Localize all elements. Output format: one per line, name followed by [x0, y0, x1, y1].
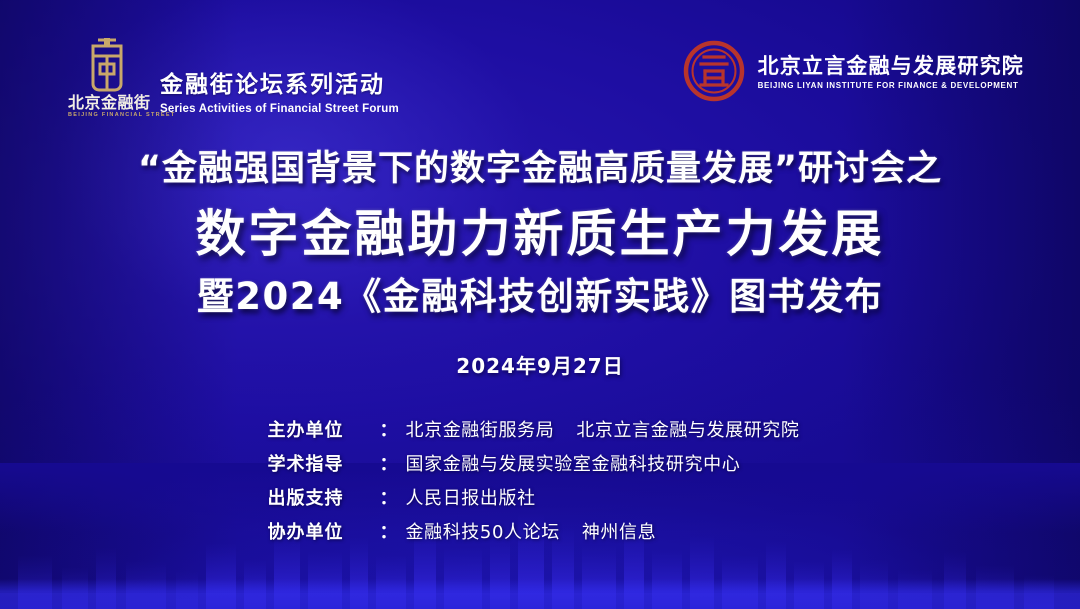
- logo-bar: 北京金融街 BEIJING FINANCIAL STREET 金融街论坛系列活动…: [0, 36, 1080, 120]
- credit-row: 主办单位 ： 北京金融街服务局北京立言金融与发展研究院: [268, 416, 813, 442]
- credit-row: 协办单位 ： 金融科技50人论坛神州信息: [268, 518, 813, 544]
- credit-label: 学术指导: [268, 450, 380, 476]
- event-date: 2024年9月27日: [0, 350, 1080, 379]
- credit-label: 出版支持: [268, 484, 380, 510]
- credit-value: 北京金融街服务局北京立言金融与发展研究院: [406, 416, 800, 442]
- forum-title-en: Series Activities of Financial Street Fo…: [160, 103, 399, 115]
- left-logo-text: 金融街论坛系列活动 Series Activities of Financial…: [160, 72, 399, 118]
- institute-name-cn: 北京立言金融与发展研究院: [758, 54, 1024, 78]
- credit-label: 协办单位: [268, 518, 380, 544]
- forum-title-cn: 金融街论坛系列活动: [160, 72, 399, 99]
- credit-value-primary: 北京金融街服务局: [406, 420, 555, 441]
- institute-name-en: BEIJING LIYAN INSTITUTE FOR FINANCE & DE…: [758, 81, 1024, 90]
- credit-value: 人民日报出版社: [406, 484, 536, 510]
- credit-label: 主办单位: [268, 416, 380, 442]
- credit-colon: ：: [380, 450, 398, 476]
- credit-colon: ：: [380, 518, 398, 544]
- credit-value-primary: 国家金融与发展实验室金融科技研究中心: [406, 454, 741, 475]
- credit-value-secondary: 北京立言金融与发展研究院: [576, 420, 799, 441]
- credit-value-secondary: 神州信息: [582, 522, 656, 543]
- gate-icon: [68, 36, 146, 92]
- credit-row: 出版支持 ： 人民日报出版社: [268, 484, 813, 510]
- event-main-title: 数字金融助力新质生产力发展: [0, 201, 1080, 266]
- liyan-seal-icon: [683, 40, 745, 102]
- poster-canvas: 北京金融街 BEIJING FINANCIAL STREET 金融街论坛系列活动…: [0, 0, 1080, 609]
- credit-value: 国家金融与发展实验室金融科技研究中心: [406, 450, 741, 476]
- event-subtitle-line: “金融强国背景下的数字金融高质量发展”研讨会之: [0, 148, 1080, 191]
- title-block: “金融强国背景下的数字金融高质量发展”研讨会之 数字金融助力新质生产力发展 暨2…: [0, 148, 1080, 379]
- bfs-mark-en: BEIJING FINANCIAL STREET: [68, 113, 146, 119]
- beijing-financial-street-mark: 北京金融街 BEIJING FINANCIAL STREET: [68, 36, 146, 119]
- credit-colon: ：: [380, 416, 398, 442]
- bfs-mark-cn: 北京金融街: [68, 95, 146, 111]
- credit-value-primary: 人民日报出版社: [406, 488, 536, 509]
- credit-row: 学术指导 ： 国家金融与发展实验室金融科技研究中心: [268, 450, 813, 476]
- credit-colon: ：: [380, 484, 398, 510]
- ground-glow: [0, 579, 1080, 609]
- right-logo-text: 北京立言金融与发展研究院 BEIJING LIYAN INSTITUTE FOR…: [758, 52, 1024, 90]
- left-logo-group: 北京金融街 BEIJING FINANCIAL STREET 金融街论坛系列活动…: [68, 36, 399, 119]
- event-secondary-title: 暨2024《金融科技创新实践》图书发布: [0, 274, 1080, 320]
- credit-value: 金融科技50人论坛神州信息: [406, 518, 657, 544]
- credits-block: 主办单位 ： 北京金融街服务局北京立言金融与发展研究院 学术指导 ： 国家金融与…: [0, 416, 1080, 544]
- right-logo-group: 北京立言金融与发展研究院 BEIJING LIYAN INSTITUTE FOR…: [683, 40, 1024, 102]
- credit-value-primary: 金融科技50人论坛: [406, 522, 560, 543]
